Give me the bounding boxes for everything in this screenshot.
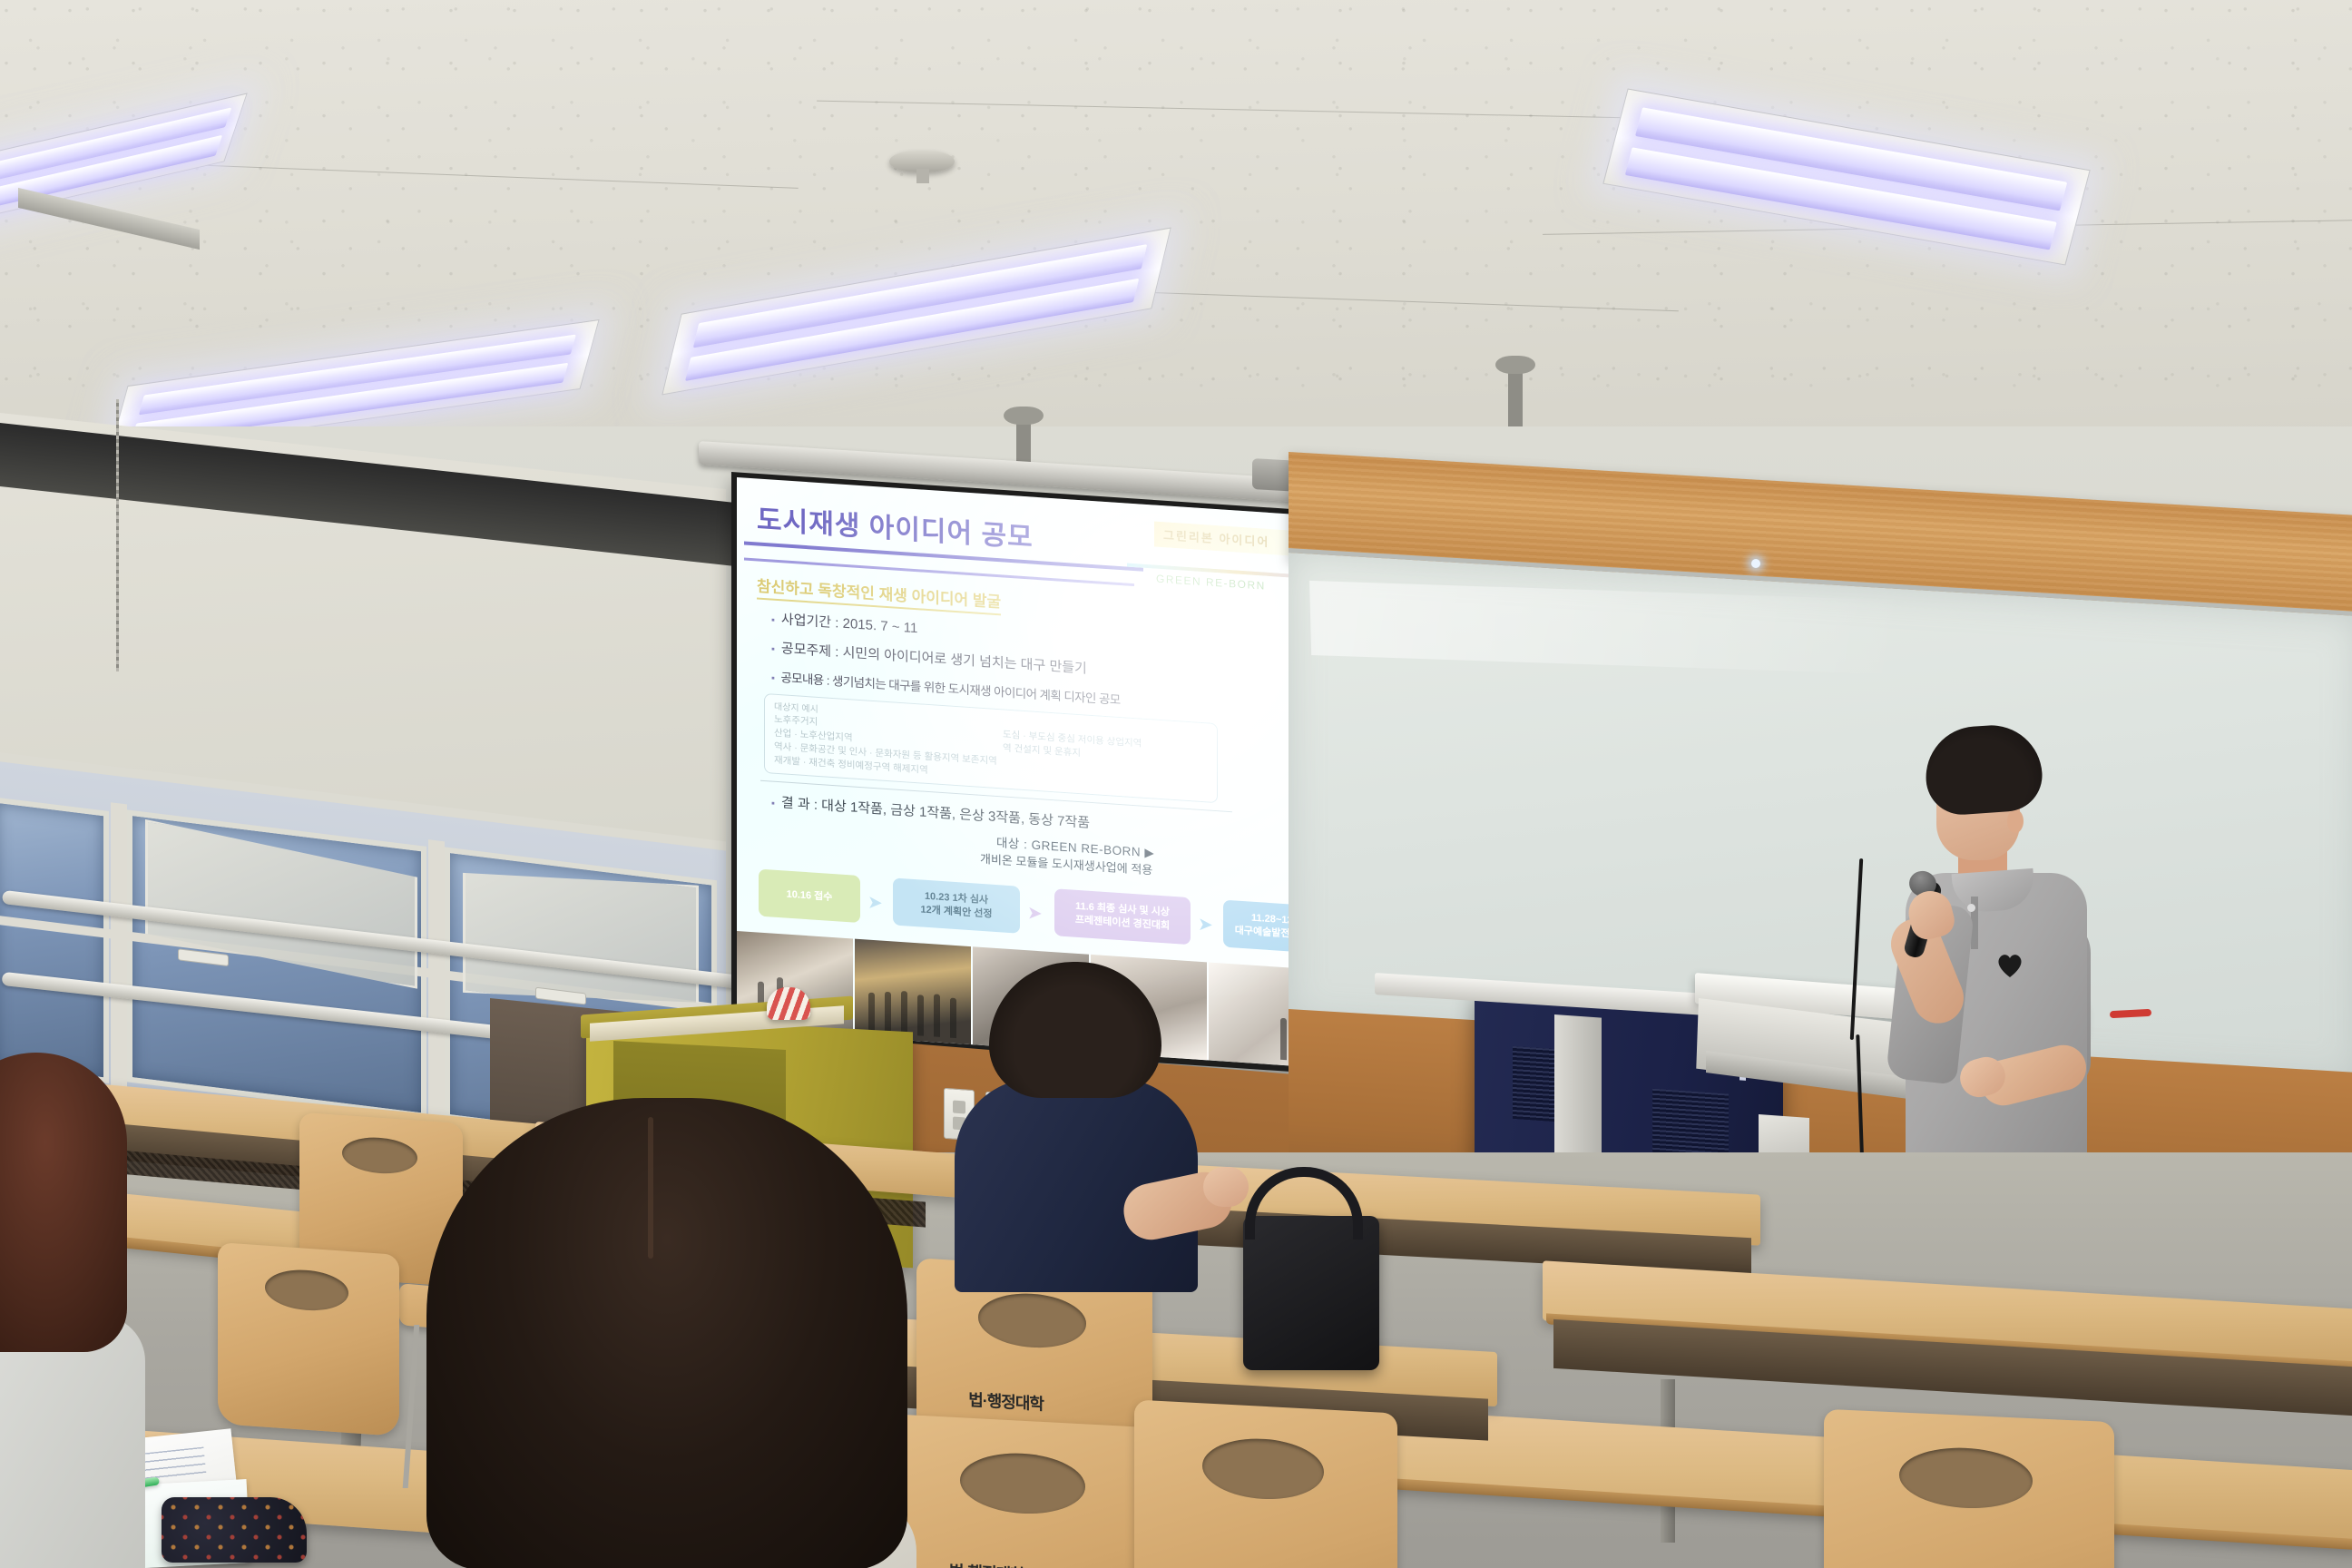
smoke-detector-stem [916,169,929,183]
student-hair [426,1098,907,1568]
whiteboard-glare [1309,580,1900,674]
window-mullion [428,839,445,1133]
flow-step-top: 10.16 접수 [787,887,833,904]
striped-object[interactable] [767,987,810,1020]
chair-handle-hole [265,1268,348,1313]
chair[interactable]: 법·행정대학 [889,1414,1161,1568]
flow-step: 10.23 1차 심사 12개 계획안 선정 [893,877,1020,933]
chair-back [1134,1399,1397,1568]
pencil-pouch[interactable] [162,1497,307,1563]
chair-back [1824,1409,2114,1568]
student-brown-hair [0,1053,163,1568]
indicator-led-icon [1751,559,1760,568]
presenter-hair [1923,722,2044,818]
chair-handle-hole [960,1450,1085,1516]
chair-label: 법·행정대학 [968,1387,1044,1416]
presenter-shirt-button [1967,904,1975,912]
slide-note-left: 노후주거지 산업 · 노후산업지역 역사 · 문화공간 및 인사 · 문화자원 … [774,713,1001,783]
flow-step: 10.16 접수 [759,869,860,923]
flow-arrow-icon: ➤ [867,891,883,915]
chair-handle-hole [1899,1445,2033,1512]
chair[interactable] [218,1242,399,1436]
student-hair [0,1053,127,1352]
chair[interactable] [1824,1409,2114,1568]
slide-logo-text: GREEN RE-BORN [1156,573,1266,593]
student-hand [1203,1167,1249,1207]
student-hair [989,962,1161,1098]
chair-handle-hole [342,1135,417,1176]
chair[interactable] [1134,1399,1397,1568]
flow-arrow-icon: ➤ [1027,901,1043,925]
flow-step: 11.6 최종 심사 및 시상 프레젠테이션 경진대회 [1054,888,1191,945]
blind-cord[interactable] [116,399,119,671]
presenter-ear [2007,809,2024,833]
hair-part [648,1117,653,1259]
window-mullion [111,802,127,1094]
student-long-hair [426,1098,907,1568]
chair-back: 법·행정대학 [889,1414,1161,1568]
flow-arrow-icon: ➤ [1198,913,1213,936]
screen-mount-cap [1495,356,1535,374]
student-navy-shirt [935,962,1216,1289]
chair-handle-hole [1202,1436,1323,1502]
chair-back [218,1242,399,1436]
student-torso [0,1316,145,1568]
slide-note-right: 도심 · 부도심 중심 저이용 상업지역 역 건설지 및 운휴지 [1003,728,1211,769]
chair-label: 법·행정대학 [949,1559,1024,1568]
chair-handle-hole [978,1290,1087,1350]
screen-mount-cap [1004,407,1044,425]
slide-result-line: 결 과 : 대상 1작품, 금상 1작품, 은상 3작품, 동상 7작품 [771,792,1090,832]
window-pane [0,797,109,1083]
lecture-hall-photo: 그린리본 아이디어 도시재생 아이디어 공모 GREEN RE-BORN 참신하… [0,0,2352,1568]
